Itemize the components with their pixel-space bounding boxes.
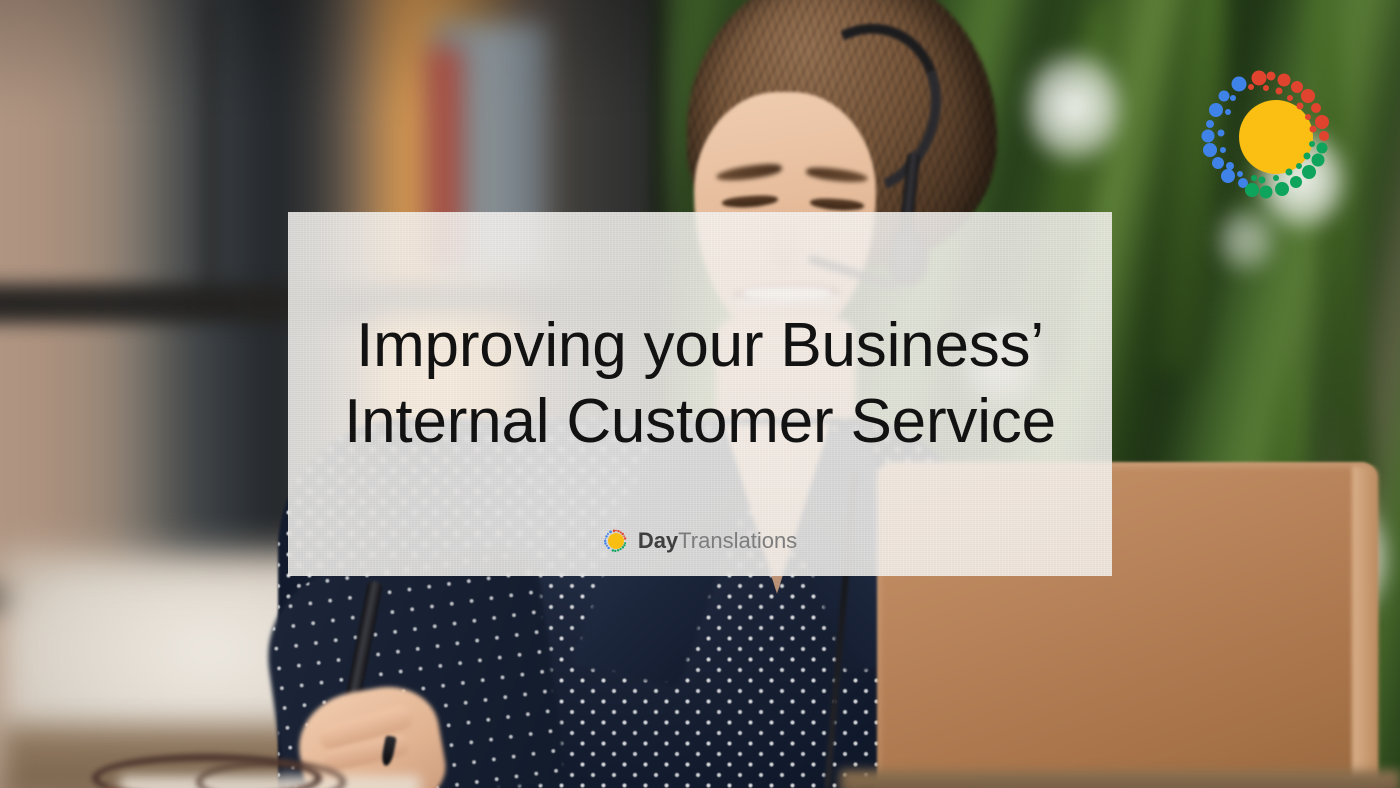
brand-name-bold: Day <box>638 528 678 553</box>
logo-dot-ring <box>1196 62 1344 210</box>
laptop-base <box>840 770 1400 788</box>
logo-dot-ring <box>603 528 629 554</box>
brand-name-light: Translations <box>678 528 797 553</box>
brand-logo: DayTranslations <box>288 528 1112 554</box>
title-card: Improving your Business’ Internal Custom… <box>288 212 1112 576</box>
hero-banner: Improving your Business’ Internal Custom… <box>0 0 1400 788</box>
brand-wordmark: DayTranslations <box>638 530 797 552</box>
sun-dots-logo-icon <box>1196 62 1344 210</box>
page-title: Improving your Business’ Internal Custom… <box>288 308 1112 460</box>
laptop-edge <box>1352 466 1378 784</box>
sun-dots-logo-icon <box>603 528 629 554</box>
